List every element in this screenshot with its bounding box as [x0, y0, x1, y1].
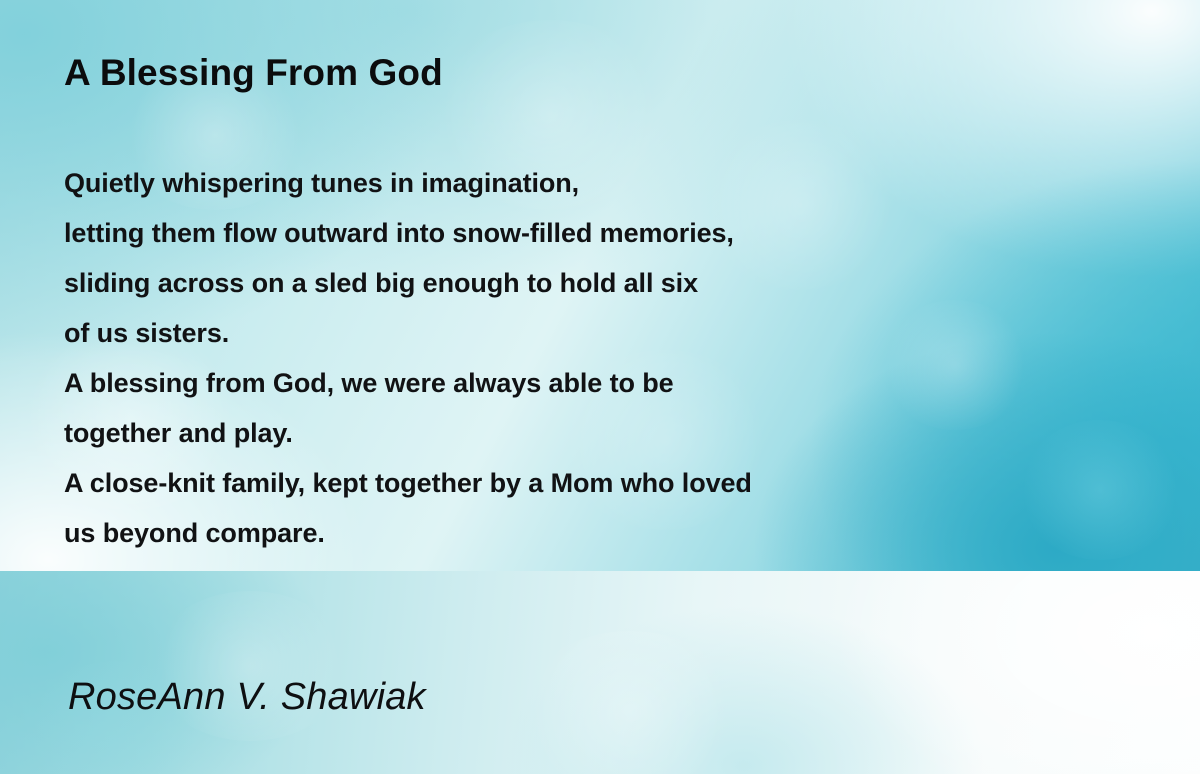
poem-line: Quietly whispering tunes in imagination,	[64, 158, 1064, 208]
poem-body: Quietly whispering tunes in imagination,…	[64, 158, 1064, 558]
poem-card: A Blessing From God Quietly whispering t…	[0, 0, 1200, 774]
poem-line: A close-knit family, kept together by a …	[64, 458, 1064, 508]
poem-line: letting them flow outward into snow-fill…	[64, 208, 1064, 258]
background-image-bottom	[0, 571, 1200, 774]
poem-line: us beyond compare.	[64, 508, 1064, 558]
poem-line: together and play.	[64, 408, 1064, 458]
poem-line: A blessing from God, we were always able…	[64, 358, 1064, 408]
author-byline: RoseAnn V. Shawiak	[68, 676, 426, 719]
page-title: A Blessing From God	[64, 52, 443, 94]
poem-line: sliding across on a sled big enough to h…	[64, 258, 1064, 308]
bokeh-blob	[520, 631, 740, 774]
poem-line: of us sisters.	[64, 308, 1064, 358]
